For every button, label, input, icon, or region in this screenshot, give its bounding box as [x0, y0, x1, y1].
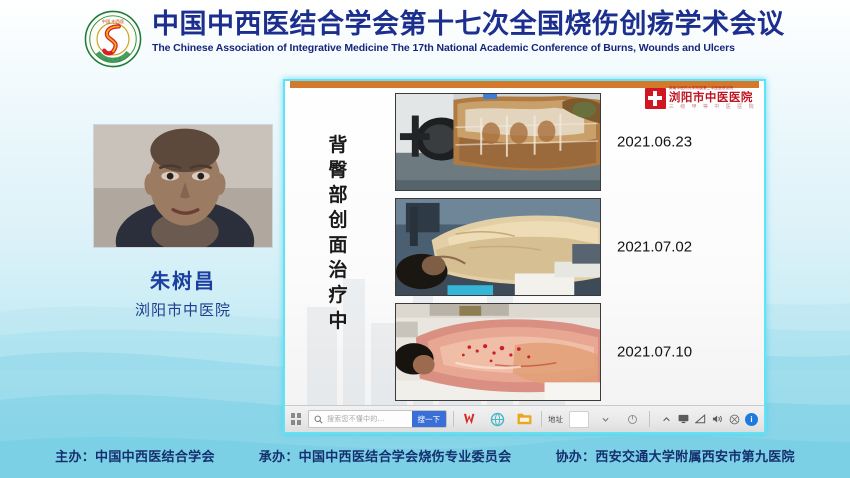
clinical-photo — [395, 303, 601, 401]
search-icon — [309, 415, 327, 424]
speaker-organization: 浏阳市中医院 — [93, 299, 273, 320]
caption-char-7: 中 — [323, 309, 353, 334]
photo-date: 2021.07.02 — [617, 239, 692, 256]
caption-char-3: 创 — [323, 208, 353, 233]
photo-date: 2021.06.23 — [617, 134, 692, 151]
slide-photo-row: 2021.07.10 — [395, 303, 601, 401]
hospital-logo-sub-text: 三 级 甲 等 中 医 医 院 — [669, 105, 756, 110]
caption-char-1: 臀 — [323, 158, 353, 183]
address-bar-input[interactable] — [569, 411, 589, 428]
wps-office-icon[interactable] — [460, 410, 481, 429]
conference-header: 中国 中西医 结 合 学 会 中国中西医结合学会第十七次全国烧伤创疡学术会议 T… — [0, 0, 850, 78]
display-icon[interactable] — [677, 413, 689, 425]
conference-title-en: The Chinese Association of Integrative M… — [152, 42, 785, 54]
caption-char-0: 背 — [323, 133, 353, 158]
taskbar-divider — [453, 411, 454, 427]
network-icon[interactable] — [694, 413, 706, 425]
conference-title-cn: 中国中西医结合学会第十七次全国烧伤创疡学术会议 — [152, 10, 785, 39]
footer-organizer: 主办：中国中西医结合学会 — [55, 446, 215, 465]
speaker-name: 朱树昌 — [93, 265, 273, 294]
caption-char-2: 部 — [323, 183, 353, 208]
start-button-icon[interactable] — [291, 413, 302, 426]
clinical-photo — [395, 198, 601, 296]
show-hidden-icons-chevron-icon[interactable] — [660, 413, 672, 425]
taskbar-divider — [541, 411, 542, 427]
presentation-slide: 湖南中医药大学附属第二中医医院总院 浏阳市中医医院 三 级 甲 等 中 医 医 … — [285, 81, 764, 407]
volume-icon[interactable] — [711, 413, 723, 425]
chevron-down-icon[interactable] — [595, 410, 616, 429]
taskbar-search-box[interactable]: 搜索您不懂中的... 搜一下 — [308, 410, 447, 428]
footer-co-organizer: 协办：西安交通大学附属西安市第九医院 — [555, 446, 794, 465]
conference-broadcast-screen: 中国 中西医 结 合 学 会 中国中西医结合学会第十七次全国烧伤创疡学术会议 T… — [0, 0, 850, 478]
action-center-icon[interactable] — [728, 413, 740, 425]
browser-icon[interactable] — [487, 410, 508, 429]
hospital-cross-icon — [645, 88, 666, 109]
hospital-logo: 湖南中医药大学附属第二中医医院总院 浏阳市中医医院 三 级 甲 等 中 医 医 … — [645, 87, 756, 110]
search-input-placeholder[interactable]: 搜索您不懂中的... — [327, 414, 412, 424]
footer-undertaker: 承办：中国中西医结合学会烧伤专业委员会 — [259, 446, 512, 465]
file-explorer-icon[interactable] — [514, 410, 535, 429]
slide-vertical-caption: 背 臀 部 创 面 治 疗 中 — [323, 133, 353, 334]
search-submit-button[interactable]: 搜一下 — [412, 410, 447, 428]
speaker-video-tile[interactable] — [93, 124, 273, 248]
clinical-photo — [395, 93, 601, 191]
svg-text:中国 中西医: 中国 中西医 — [102, 18, 125, 25]
slide-photo-row: 2021.07.02 — [395, 198, 601, 296]
speaker-portrait — [94, 125, 272, 247]
slide-photo-row: 2021.06.23 — [395, 93, 601, 191]
shared-screen-region[interactable]: 湖南中医药大学附属第二中医医院总院 浏阳市中医医院 三 级 甲 等 中 医 医 … — [283, 79, 766, 434]
refresh-icon[interactable] — [622, 410, 643, 429]
caption-char-5: 治 — [323, 258, 353, 283]
association-logo-icon: 中国 中西医 结 合 学 会 — [84, 10, 142, 68]
system-tray[interactable]: i — [656, 413, 758, 426]
conference-footer: 主办：中国中西医结合学会 承办：中国中西医结合学会烧伤专业委员会 协办：西安交通… — [0, 432, 850, 478]
svg-text:结 合 学 会: 结 合 学 会 — [104, 56, 122, 61]
windows-taskbar[interactable]: 搜索您不懂中的... 搜一下 — [285, 405, 764, 432]
notification-badge-icon[interactable]: i — [745, 413, 758, 426]
hospital-logo-name: 浏阳市中医医院 — [669, 92, 756, 104]
caption-char-4: 面 — [323, 233, 353, 258]
speaker-panel: 朱树昌 浏阳市中医院 — [93, 124, 273, 320]
caption-char-6: 疗 — [323, 283, 353, 308]
taskbar-divider — [649, 411, 650, 427]
address-bar-label: 地址 — [548, 414, 563, 425]
photo-date: 2021.07.10 — [617, 344, 692, 361]
